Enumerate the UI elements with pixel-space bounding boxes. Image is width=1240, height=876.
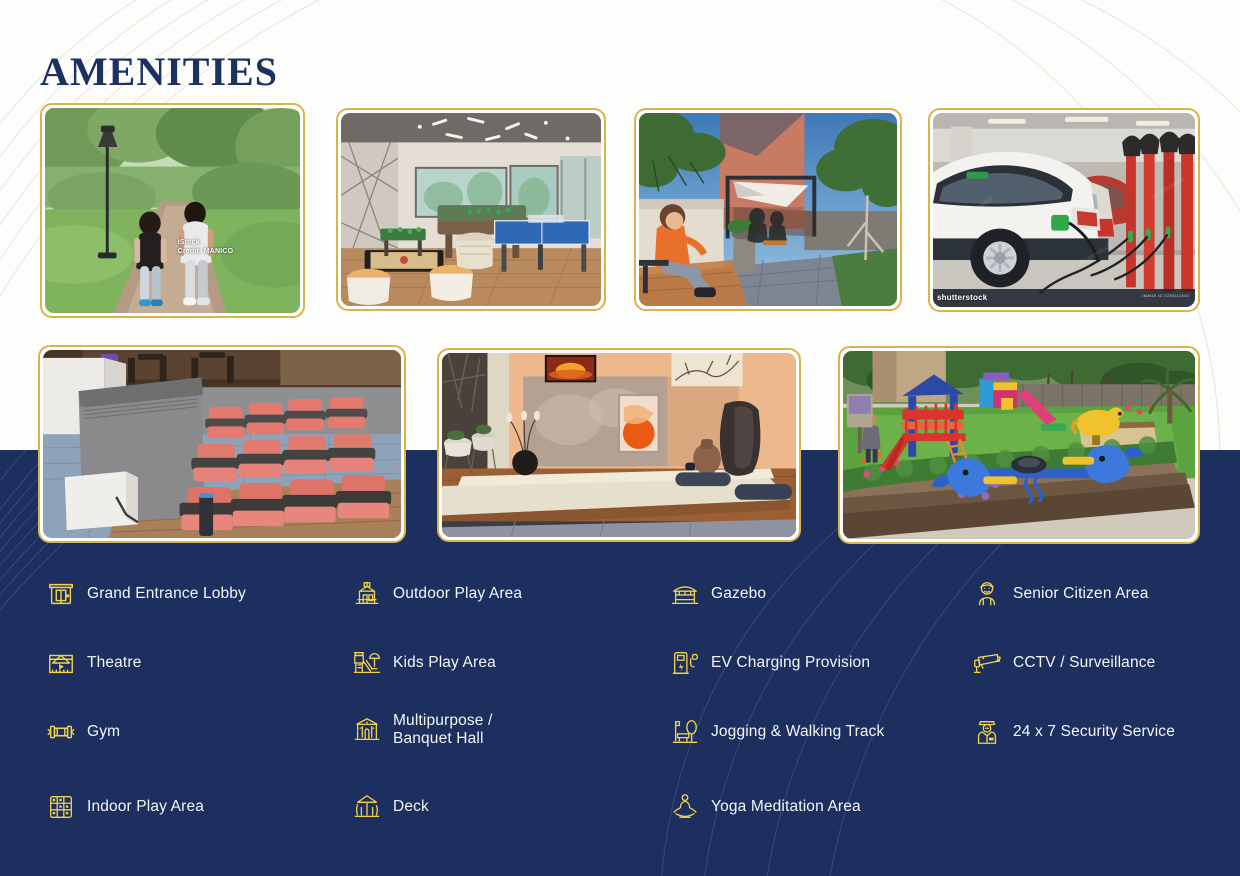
amenity-label: Deck <box>393 798 429 816</box>
amenity-label: Kids Play Area <box>393 654 496 672</box>
ev-charging-photo: shutterstock shutterstock shutterstock s… <box>933 113 1195 307</box>
shutterstock-watermark-bar: shutterstock IMAGE ID 2235112343 <box>933 289 1195 307</box>
banquet-hall-icon <box>352 715 382 745</box>
amenity-label: 24 x 7 Security Service <box>1013 723 1175 741</box>
amenities-list: Grand Entrance Lobby Theatre <box>0 450 1240 876</box>
amenity-item-yoga-meditation[interactable]: Yoga Meditation Area <box>670 792 861 822</box>
amenity-label: Jogging & Walking Track <box>711 723 884 741</box>
indoor-play-area-icon <box>46 792 76 822</box>
amenity-item-banquet-hall[interactable]: Multipurpose / Banquet Hall <box>352 712 492 749</box>
page-title: AMENITIES <box>40 48 278 95</box>
deck-icon <box>352 792 382 822</box>
watermark-credit: Credit: MANICO <box>178 248 234 255</box>
indoor-games-room-photo <box>341 113 601 306</box>
amenity-item-jogging-track[interactable]: Jogging & Walking Track <box>670 717 884 747</box>
grand-entrance-lobby-icon <box>46 579 76 609</box>
amenity-label: Gazebo <box>711 585 766 603</box>
watermark-image-id: IMAGE ID 2235112343 <box>1142 293 1189 298</box>
security-guard-icon <box>972 717 1002 747</box>
kids-play-area-icon <box>352 648 382 678</box>
outdoor-play-area-icon <box>352 579 382 609</box>
amenity-item-theatre[interactable]: Theatre <box>46 648 141 678</box>
gym-dumbbell-icon <box>46 717 76 747</box>
amenity-label: Gym <box>87 723 120 741</box>
watermark-source: iStock <box>178 239 200 246</box>
amenity-label: EV Charging Provision <box>711 654 870 672</box>
amenity-label: Multipurpose / Banquet Hall <box>393 712 492 749</box>
amenity-label: Senior Citizen Area <box>1013 585 1149 603</box>
cctv-camera-icon <box>972 648 1002 678</box>
istock-watermark: iStock Credit: MANICO <box>178 239 234 257</box>
amenity-item-gym[interactable]: Gym <box>46 717 120 747</box>
watermark-source: shutterstock <box>937 293 987 303</box>
jogging-track-icon <box>670 717 700 747</box>
ev-charging-icon <box>670 648 700 678</box>
amenity-item-kids-play-area[interactable]: Kids Play Area <box>352 648 496 678</box>
gallery-card-ev-charging[interactable]: shutterstock shutterstock shutterstock s… <box>928 108 1200 312</box>
amenity-item-grand-entrance-lobby[interactable]: Grand Entrance Lobby <box>46 579 246 609</box>
gallery-card-indoor-games[interactable] <box>336 108 606 311</box>
yoga-meditation-icon <box>670 792 700 822</box>
amenity-item-deck[interactable]: Deck <box>352 792 429 822</box>
amenity-item-gazebo[interactable]: Gazebo <box>670 579 766 609</box>
amenity-item-outdoor-play-area[interactable]: Outdoor Play Area <box>352 579 522 609</box>
amenity-label: Yoga Meditation Area <box>711 798 861 816</box>
amenity-label: Grand Entrance Lobby <box>87 585 246 603</box>
amenity-item-security-service[interactable]: 24 x 7 Security Service <box>972 717 1175 747</box>
theatre-icon <box>46 648 76 678</box>
gallery-card-gazebo-terrace[interactable] <box>634 108 902 311</box>
amenity-label: CCTV / Surveillance <box>1013 654 1155 672</box>
jogging-track-photo: iStock Credit: MANICO <box>45 108 300 313</box>
amenity-label: Outdoor Play Area <box>393 585 522 603</box>
senior-citizen-icon <box>972 579 1002 609</box>
amenity-label: Indoor Play Area <box>87 798 204 816</box>
amenity-item-indoor-play-area[interactable]: Indoor Play Area <box>46 792 204 822</box>
amenity-item-ev-charging[interactable]: EV Charging Provision <box>670 648 870 678</box>
amenity-item-cctv-surveillance[interactable]: CCTV / Surveillance <box>972 648 1155 678</box>
amenity-label: Theatre <box>87 654 141 672</box>
amenities-page: AMENITIES <box>0 0 1240 876</box>
gazebo-icon <box>670 579 700 609</box>
gazebo-terrace-photo <box>639 113 897 306</box>
amenity-item-senior-citizen-area[interactable]: Senior Citizen Area <box>972 579 1149 609</box>
gallery-card-jogging-track[interactable]: iStock Credit: MANICO <box>40 103 305 318</box>
